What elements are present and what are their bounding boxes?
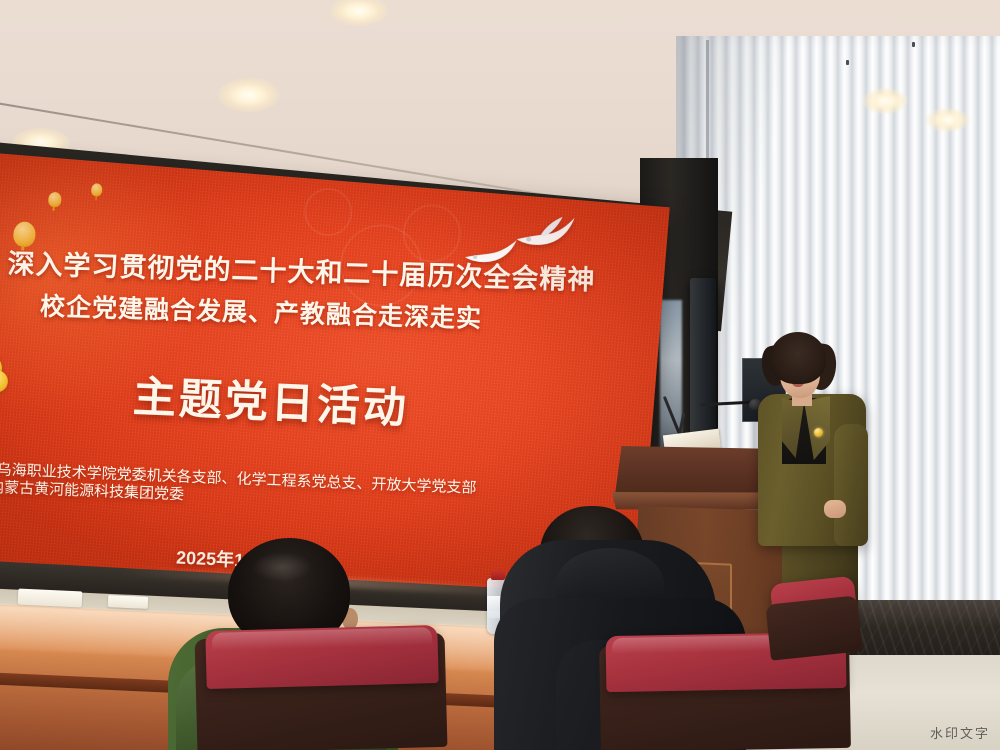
ceiling-downlight-icon xyxy=(926,108,970,132)
speaker-hairstyle xyxy=(770,332,826,384)
table-paper xyxy=(108,595,149,609)
wall-fixing-dot xyxy=(846,60,849,65)
ceiling-downlight-icon xyxy=(862,88,908,114)
lapel-pin-icon xyxy=(814,428,823,437)
bottle-cap xyxy=(491,570,505,580)
speaker-arm xyxy=(834,424,868,546)
attendee-left-hair-highlight xyxy=(252,552,312,582)
table-paper xyxy=(18,589,83,608)
watermark-text: 水印文字 xyxy=(930,723,990,742)
photo-scene: 深入学习贯彻党的二十大和二十届历次全会精神 校企党建融合发展、产教融合走深走实 … xyxy=(0,0,1000,750)
speaker-hand xyxy=(824,500,846,518)
chair-frame[interactable] xyxy=(765,595,862,660)
ceiling-downlight-icon xyxy=(218,78,280,112)
wall-fixing-dot xyxy=(912,42,915,47)
